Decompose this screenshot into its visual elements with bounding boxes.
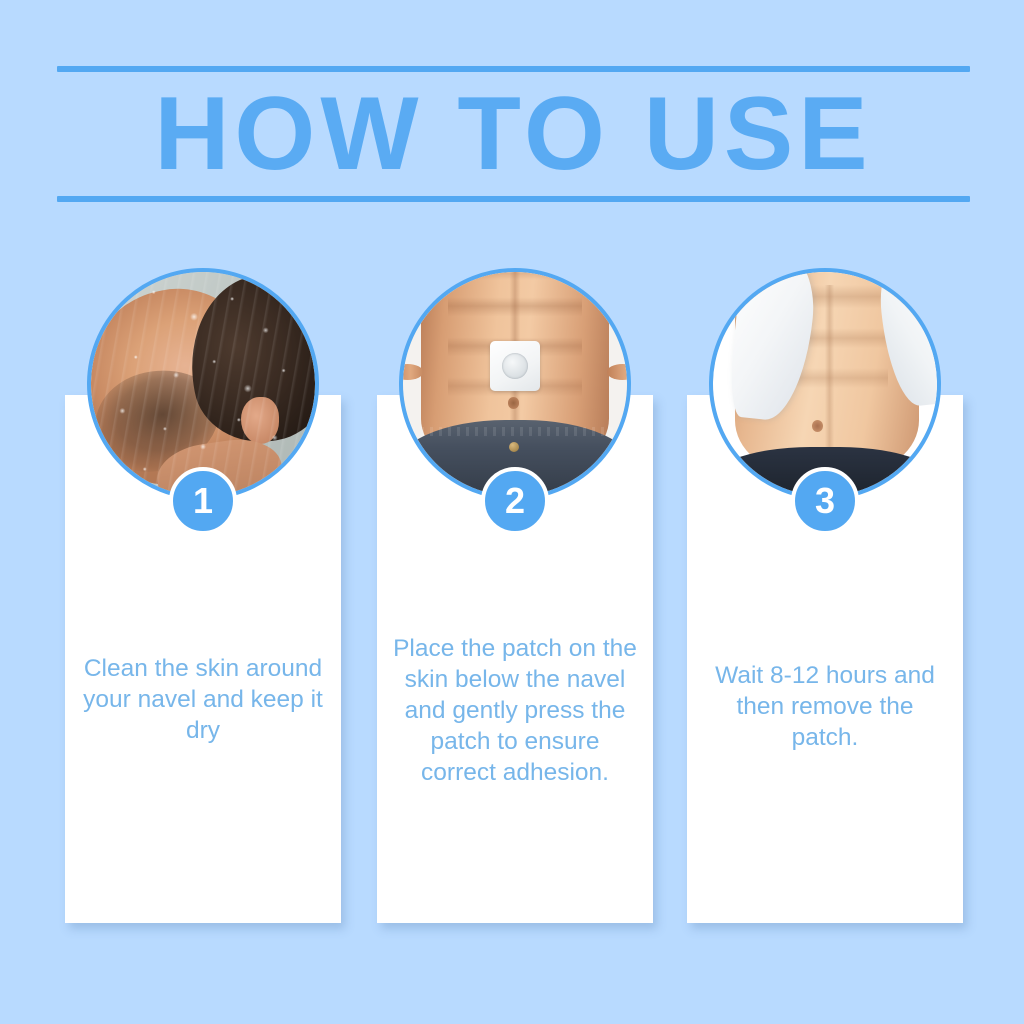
steps-container: Clean the skin around your navel and kee… [0,0,1024,1024]
step-2-number-badge: 2 [481,467,549,535]
step-1-text: Clean the skin around your navel and kee… [79,653,327,746]
slimming-patch [490,341,539,390]
torso-lifting-shirt-photo [713,272,937,496]
step-1-number-badge: 1 [169,467,237,535]
step-3-photo [709,268,941,500]
step-2-photo [399,268,631,500]
navel-shape [812,420,823,432]
step-2-text: Place the patch on the skin below the na… [391,633,639,788]
step-3-text: Wait 8-12 hours and then remove the patc… [701,660,949,753]
step-1-photo [87,268,319,500]
patch-on-abdomen-photo [403,272,627,496]
step-3: Wait 8-12 hours and then remove the patc… [687,268,963,928]
step-1: Clean the skin around your navel and kee… [65,268,341,928]
step-3-number-badge: 3 [791,467,859,535]
man-showering-photo [91,272,315,496]
step-2: Place the patch on the skin below the na… [377,268,653,928]
right-hand-shape [607,364,627,380]
navel-shape [508,397,519,408]
water-droplets [91,272,315,496]
how-to-use-infographic: HOW TO USE Clean the skin around your na… [0,0,1024,1024]
